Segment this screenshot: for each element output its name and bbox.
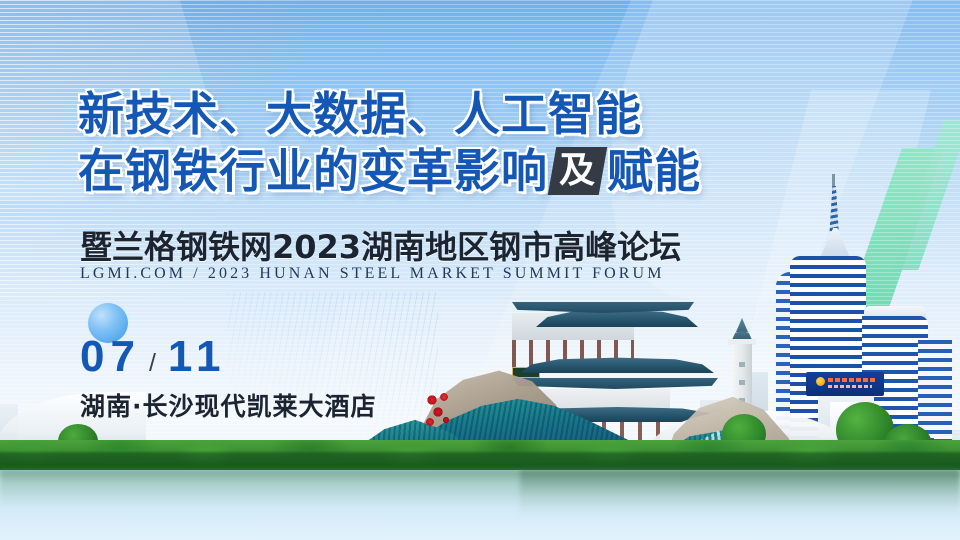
event-day: 11 bbox=[168, 334, 227, 380]
tower-window-3 bbox=[739, 398, 745, 403]
antenna-lattice-icon bbox=[826, 186, 842, 232]
tower-roof bbox=[730, 331, 754, 340]
foliage-shadow bbox=[0, 452, 960, 474]
tree-4 bbox=[58, 424, 98, 458]
pavilion-floor-mid bbox=[512, 389, 670, 419]
background-polygon-water bbox=[796, 430, 960, 540]
water-reflection bbox=[0, 470, 960, 506]
rock-formation-left bbox=[418, 368, 568, 434]
pavilion-floor-low bbox=[512, 460, 686, 494]
broadcast-sign-text-cn bbox=[828, 378, 876, 382]
pavilion-roof-low bbox=[508, 406, 726, 422]
pavilion-columns-mid bbox=[512, 419, 670, 449]
pavilion-name-plaque bbox=[512, 367, 540, 378]
tower-right bbox=[862, 316, 928, 452]
event-poster: 新技术、大数据、人工智能 在钢铁行业的变革影响及赋能 暨兰格钢铁网2023湖南地… bbox=[0, 0, 960, 540]
background-building-2 bbox=[700, 400, 722, 450]
pavilion-eave-mid bbox=[512, 378, 718, 389]
broadcast-signboard bbox=[806, 372, 884, 396]
tower-archway bbox=[818, 396, 874, 438]
headline-line-2: 在钢铁行业的变革影响及赋能 bbox=[78, 143, 701, 200]
tower-archway-opening bbox=[830, 402, 862, 438]
rock-formation-right bbox=[660, 392, 800, 472]
tower-window-2 bbox=[739, 380, 745, 385]
headline-line-2-part-b: 赋能 bbox=[607, 144, 701, 198]
pavilion-columns-top bbox=[512, 340, 634, 367]
tree-2 bbox=[836, 402, 894, 458]
tree-1 bbox=[722, 414, 766, 454]
pavilion-railing bbox=[512, 528, 698, 536]
antenna-mast-icon bbox=[832, 174, 835, 236]
foliage-band bbox=[0, 440, 960, 482]
page-title: 新技术、大数据、人工智能 在钢铁行业的变革影响及赋能 bbox=[78, 86, 701, 200]
water-reflection-right bbox=[520, 470, 960, 516]
pavilion-floor-top bbox=[512, 313, 634, 340]
headline-badge-label: 及 bbox=[559, 147, 596, 195]
striped-hill bbox=[676, 420, 786, 466]
tower-wing-left bbox=[776, 272, 810, 452]
tianxin-pavilion bbox=[512, 302, 722, 462]
event-venue: 湖南·长沙现代凯莱大酒店 bbox=[80, 387, 377, 423]
tower-balcony-ring bbox=[728, 339, 756, 345]
event-date: 07 / 11 bbox=[80, 334, 226, 380]
curved-white-roof bbox=[640, 410, 860, 466]
tower-finial-icon bbox=[736, 318, 748, 332]
tower-spire bbox=[820, 228, 850, 258]
broadcast-logo-icon bbox=[816, 377, 825, 386]
headline-line-1: 新技术、大数据、人工智能 bbox=[78, 87, 642, 141]
broadcast-sign-text-en bbox=[828, 385, 872, 388]
date-separator: / bbox=[149, 349, 156, 378]
pavilion-roof-mid bbox=[520, 357, 714, 373]
tower-window-1 bbox=[739, 362, 745, 367]
pavilion-columns-low bbox=[512, 494, 686, 528]
teal-mountain-right bbox=[640, 424, 770, 480]
pavilion-eave-low bbox=[512, 449, 742, 460]
background-building-1 bbox=[742, 372, 768, 448]
tower-podium-base bbox=[784, 438, 934, 460]
headline-line-2-part-a: 在钢铁行业的变革影响 bbox=[78, 144, 548, 198]
river-water bbox=[0, 470, 960, 540]
tree-3 bbox=[884, 424, 932, 466]
pavilion-eave-top bbox=[512, 302, 694, 313]
tower-shaft bbox=[732, 344, 752, 440]
white-观景-tower bbox=[726, 318, 758, 448]
pavilion-roof-top bbox=[536, 310, 698, 327]
subtitle-chinese: 暨兰格钢铁网2023湖南地区钢市高峰论坛 bbox=[80, 222, 681, 268]
background-building-3 bbox=[0, 404, 18, 452]
tower-far-right bbox=[918, 340, 952, 452]
subtitle-english: LGMI.COM / 2023 HUNAN STEEL MARKET SUMMI… bbox=[80, 265, 665, 283]
event-month: 07 bbox=[80, 334, 141, 380]
headline-badge-ji: 及 bbox=[548, 147, 607, 195]
